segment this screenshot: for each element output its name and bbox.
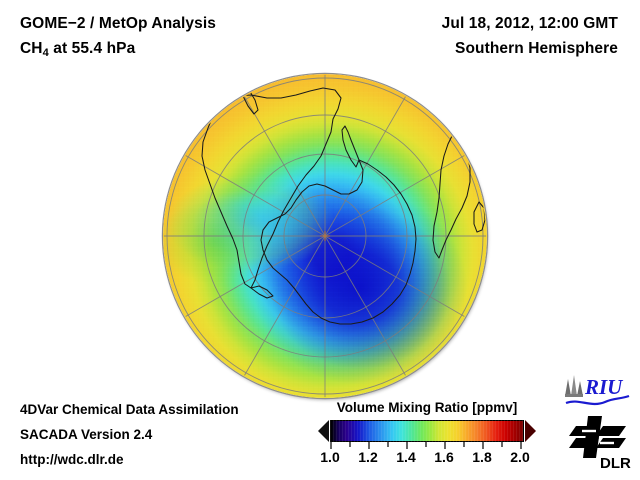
timestamp-label: Jul 18, 2012, 12:00 GMT [442,15,618,33]
colorbar-extend-low-icon [318,420,329,442]
page-title-instrument: GOME−2 / MetOp Analysis [20,15,216,33]
colorbar: Volume Mixing Ratio [ppmv] 1.0 1.2 1.4 1… [318,400,536,469]
dlr-logo: DLR [566,414,634,472]
colorbar-strip-wrap [318,420,536,442]
footer-line-2: SACADA Version 2.4 [20,427,152,442]
colorbar-tick-label: 1.0 [320,449,339,465]
colorbar-title: Volume Mixing Ratio [ppmv] [318,400,536,415]
dlr-logo-icon: DLR [566,414,634,472]
colorbar-extend-high-icon [525,420,536,442]
pole-marker [320,231,330,241]
riu-logo-icon: RIU [561,372,633,408]
region-label: Southern Hemisphere [455,40,618,58]
globe-disc [163,74,487,398]
riu-logo: RIU [561,372,633,408]
colorbar-tick-label: 1.6 [434,449,453,465]
riu-towers-icon [565,375,583,397]
colorbar-tick-label: 1.2 [358,449,377,465]
species-prefix: CH [20,40,43,57]
colorbar-tick-label: 2.0 [510,449,529,465]
coastline-south-america [202,88,341,288]
riu-wordmark: RIU [584,375,624,399]
colorbar-ticks [318,442,536,449]
coastline-africa [433,134,470,258]
coastline-australia [461,86,486,108]
footer-line-1: 4DVar Chemical Data Assimilation [20,402,239,417]
map-overlay [163,74,487,398]
species-suffix: at 55.4 hPa [49,40,136,57]
colorbar-tick-label: 1.8 [472,449,491,465]
coastline-antarctic-peninsula [342,126,359,167]
colorbar-tick-label: 1.4 [396,449,415,465]
colorbar-tick-labels: 1.0 1.2 1.4 1.6 1.8 2.0 [318,449,536,469]
polar-map [163,74,487,398]
footer-url[interactable]: http://wdc.dlr.de [20,452,124,467]
dlr-wordmark: DLR [600,455,631,472]
coastline-madagascar [474,202,485,232]
page-title-species: CH4 at 55.4 hPa [20,40,135,59]
colorbar-gradient [330,420,524,442]
